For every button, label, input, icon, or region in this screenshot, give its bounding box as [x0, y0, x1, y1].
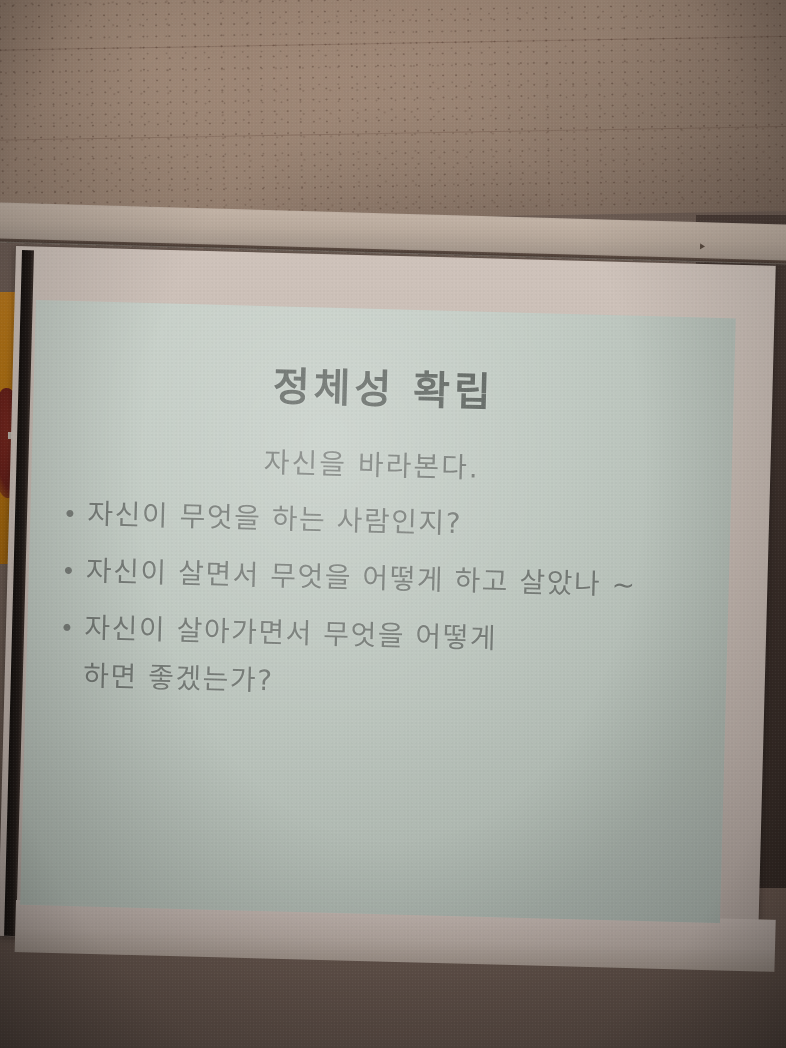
projected-slide: 정체성 확립 자신을 바라본다. 자신이 무엇을 하는 사람인지? 자신이 살면…	[20, 300, 736, 923]
bullet-row: 자신이 무엇을 하는 사람인지?	[62, 494, 723, 551]
slide-subtitle: 자신을 바라본다.	[31, 435, 732, 493]
play-triangle-icon	[700, 243, 705, 249]
list-item: 자신이 살아가면서 무엇을 어떻게 하면 좋겠는가?	[58, 607, 720, 713]
screen-brand-mark	[700, 242, 746, 252]
bullet-row: 자신이 살아가면서 무엇을 어떻게	[59, 607, 720, 664]
bullet-text-continuation: 하면 좋겠는가?	[83, 657, 719, 713]
bullet-row: 자신이 살면서 무엇을 어떻게 하고 살았나 ~	[60, 551, 721, 608]
ceiling-texture	[0, 0, 786, 225]
bullet-dot-icon	[63, 623, 70, 630]
bullet-dot-icon	[66, 510, 73, 517]
bullet-text: 자신이 살면서 무엇을 어떻게 하고 살았나 ~	[85, 551, 637, 605]
photo-scene: 정체성 확립 자신을 바라본다. 자신이 무엇을 하는 사람인지? 자신이 살면…	[0, 0, 786, 1048]
slide-content: 정체성 확립 자신을 바라본다. 자신이 무엇을 하는 사람인지? 자신이 살면…	[20, 300, 736, 923]
bullet-text: 자신이 살아가면서 무엇을 어떻게	[84, 608, 498, 659]
acoustic-ceiling	[0, 0, 786, 225]
slide-title: 정체성 확립	[33, 348, 734, 424]
bullet-text: 자신이 무엇을 하는 사람인지?	[87, 494, 463, 544]
bullet-dot-icon	[65, 567, 72, 574]
slide-bullet-list: 자신이 무엇을 하는 사람인지? 자신이 살면서 무엇을 어떻게 하고 살았나 …	[58, 494, 723, 713]
list-item: 자신이 살면서 무엇을 어떻게 하고 살았나 ~	[60, 551, 721, 608]
list-item: 자신이 무엇을 하는 사람인지?	[62, 494, 723, 551]
